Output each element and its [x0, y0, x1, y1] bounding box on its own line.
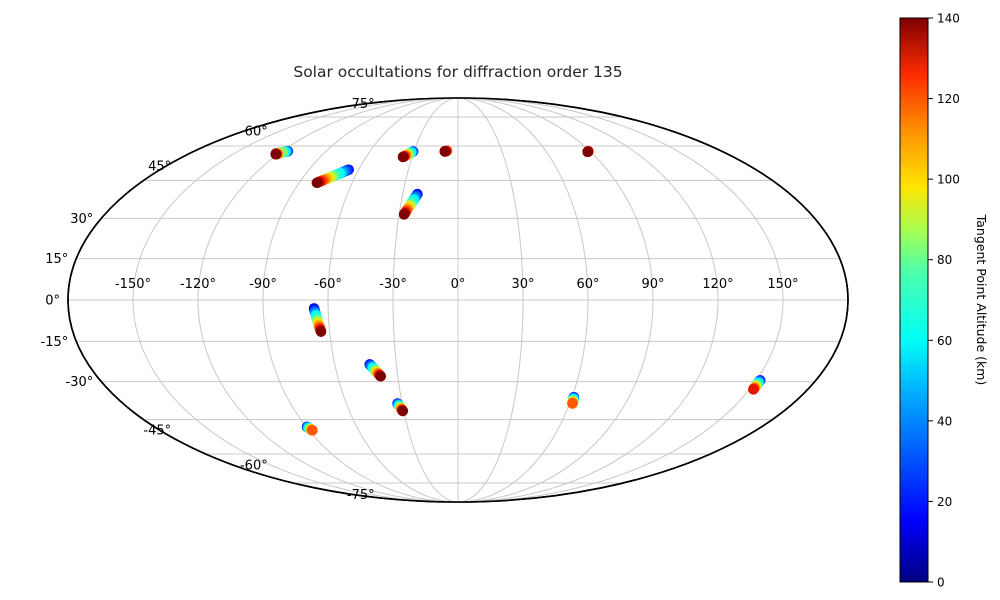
lat-tick--75: -75° [347, 488, 375, 503]
colorbar-tick-60: 60 [937, 334, 952, 348]
lat-tick--30: -30° [66, 375, 94, 390]
track-point [582, 147, 592, 157]
colorbar-tick-0: 0 [937, 576, 945, 590]
track-point [307, 425, 317, 435]
colorbar-gradient [900, 18, 928, 582]
lat-tick-75: 75° [352, 97, 375, 112]
lat-tick-60: 60° [245, 125, 268, 140]
track-point [567, 398, 577, 408]
colorbar-tick-140: 140 [937, 12, 960, 26]
lon-tick--30: -30° [379, 277, 407, 292]
lat-tick--15: -15° [41, 335, 69, 350]
map-area [68, 98, 848, 502]
lat-tick--60: -60° [240, 458, 268, 473]
lon-tick--90: -90° [249, 277, 277, 292]
lon-tick--150: -150° [115, 277, 151, 292]
lon-tick-30: 30° [511, 277, 534, 292]
lon-tick--60: -60° [314, 277, 342, 292]
lon-tick--120: -120° [180, 277, 216, 292]
lon-tick-60: 60° [576, 277, 599, 292]
colorbar-tick-100: 100 [937, 173, 960, 187]
track-point [376, 371, 386, 381]
track-point [398, 406, 408, 416]
track-point [270, 149, 280, 159]
lon-tick-150: 150° [767, 277, 798, 292]
lat-tick--45: -45° [143, 424, 171, 439]
colorbar-tick-40: 40 [937, 414, 952, 428]
solar-occultation-map: 75°60°45°30°15°0°-15°-30°-45°-60°-75° -1… [0, 0, 1000, 600]
track-point [748, 384, 758, 394]
colorbar-axis-label: Tangent Point Altitude (km) [974, 214, 989, 386]
lon-tick-120: 120° [702, 277, 733, 292]
track-point [398, 152, 408, 162]
lon-tick-0: 0° [451, 277, 466, 292]
colorbar: 020406080100120140 Tangent Point Altitud… [900, 12, 989, 590]
lat-tick-15: 15° [45, 252, 68, 267]
colorbar-tick-80: 80 [937, 253, 952, 267]
lat-tick-0: 0° [45, 294, 60, 309]
colorbar-ticks: 020406080100120140 [928, 12, 960, 590]
chart-title: Solar occultations for diffraction order… [293, 63, 622, 81]
lon-tick-90: 90° [641, 277, 664, 292]
track-point [440, 146, 450, 156]
colorbar-tick-120: 120 [937, 92, 960, 106]
track-point [316, 327, 326, 337]
colorbar-tick-20: 20 [937, 495, 952, 509]
track-point [399, 209, 409, 219]
lat-tick-45: 45° [148, 159, 171, 174]
figure-canvas: 75°60°45°30°15°0°-15°-30°-45°-60°-75° -1… [0, 0, 1000, 600]
lat-tick-30: 30° [70, 212, 93, 227]
track-point [312, 178, 322, 188]
